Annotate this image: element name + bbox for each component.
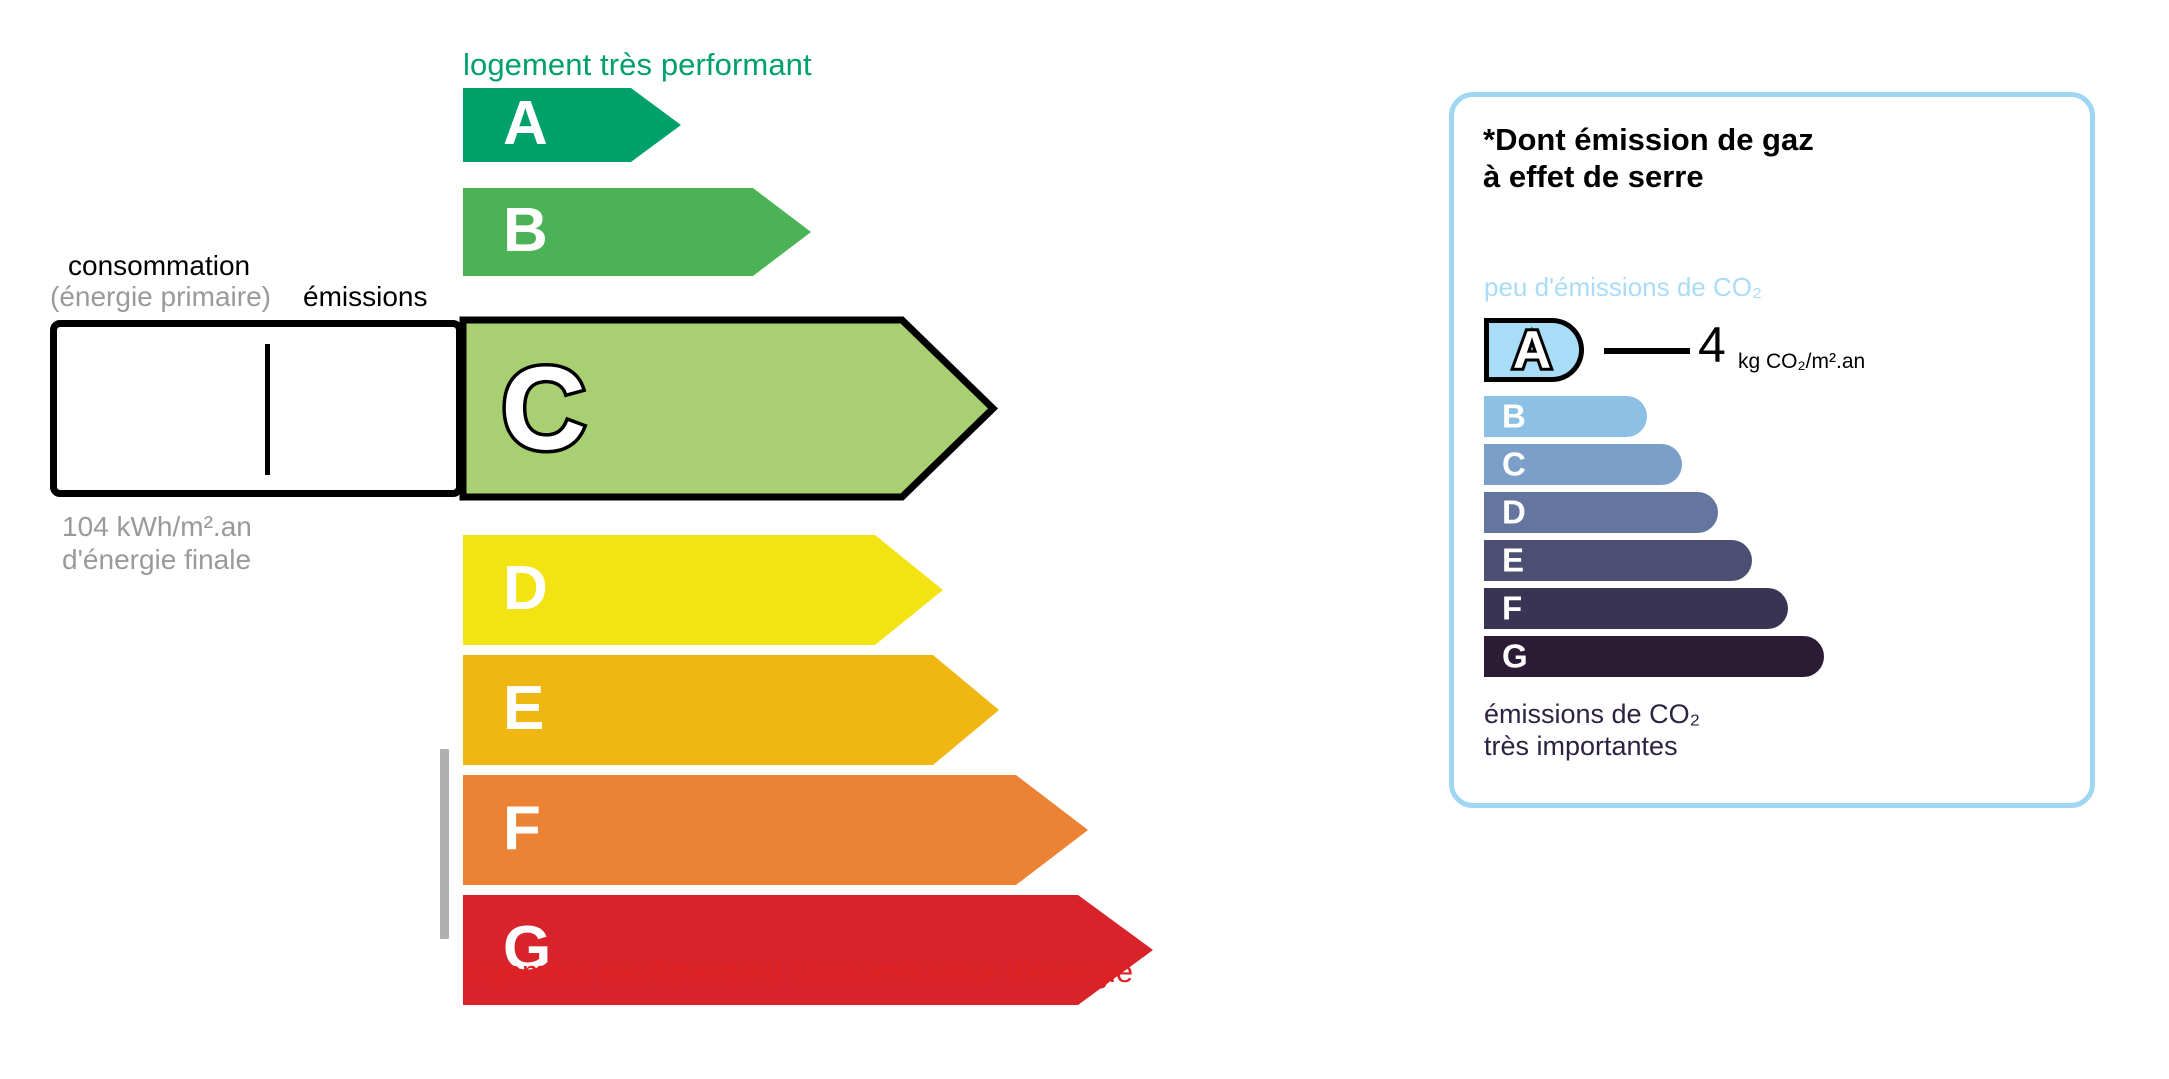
energy-grade-row-a: A — [463, 88, 681, 162]
co2-bar-letter-d: D — [1502, 495, 1526, 528]
energy-arrow-f — [463, 775, 1088, 885]
energy-grade-row-c: C — [463, 320, 993, 497]
energy-grade-row-f: F — [463, 775, 1088, 885]
energy-ladder: logement très performant ABCDEFG logemen… — [0, 0, 1340, 1079]
energy-grade-letter-a: A — [503, 93, 548, 155]
co2-grade-a-letter: A — [1497, 320, 1567, 380]
co2-grade-a-badge-left-edge — [1484, 318, 1489, 382]
co2-bar-letter-c: C — [1502, 447, 1526, 480]
energy-grade-row-b: B — [463, 188, 811, 276]
co2-bar-letter-f: F — [1502, 591, 1522, 624]
co2-bar-row-d: D — [1484, 492, 1718, 533]
co2-panel-title: *Dont émission de gaz à effet de serre — [1483, 122, 1814, 195]
consumption-header-line2: (énergie primaire) — [50, 281, 271, 313]
passoire-marker-bar — [440, 749, 449, 939]
energy-top-caption: logement très performant — [463, 47, 812, 83]
energy-grade-letter-b: B — [503, 200, 548, 262]
energy-arrow-a — [463, 88, 681, 162]
energy-bottom-caption: logement extrêmement consommateur d'éner… — [463, 954, 1133, 990]
energy-grade-letter-d: D — [503, 558, 548, 620]
co2-bar-letter-e: E — [1502, 543, 1524, 576]
co2-top-caption: peu d'émissions de CO₂ — [1484, 272, 1762, 303]
final-energy-line2: d'énergie finale — [62, 544, 251, 576]
co2-bar-e — [1484, 540, 1752, 581]
co2-bar-letter-g: G — [1502, 639, 1528, 672]
energy-grade-letter-c: C — [501, 350, 586, 468]
final-energy-line1: 104 kWh/m².an — [62, 511, 252, 543]
energy-grade-row-d: D — [463, 535, 943, 645]
energy-grade-letter-e: E — [503, 678, 544, 740]
co2-leader-line — [1604, 348, 1690, 354]
emissions-header: émissions — [303, 281, 427, 313]
value-box — [50, 320, 463, 497]
co2-unit: kg CO₂/m².an — [1738, 350, 1865, 374]
co2-bar-row-g: G — [1484, 636, 1824, 677]
energy-grade-letter-f: F — [503, 798, 541, 860]
co2-bar-row-e: E — [1484, 540, 1752, 581]
co2-bottom-caption: émissions de CO₂ très importantes — [1484, 698, 1700, 763]
co2-bar-f — [1484, 588, 1788, 629]
value-box-divider — [265, 344, 270, 475]
co2-value: 4 — [1698, 320, 1726, 370]
energy-grade-row-e: E — [463, 655, 999, 765]
co2-bar-row-f: F — [1484, 588, 1788, 629]
co2-bar-g — [1484, 636, 1824, 677]
consumption-header-line1: consommation — [68, 250, 250, 282]
co2-bar-row-b: B — [1484, 396, 1647, 437]
co2-bar-row-c: C — [1484, 444, 1682, 485]
co2-bar-letter-b: B — [1502, 399, 1526, 432]
